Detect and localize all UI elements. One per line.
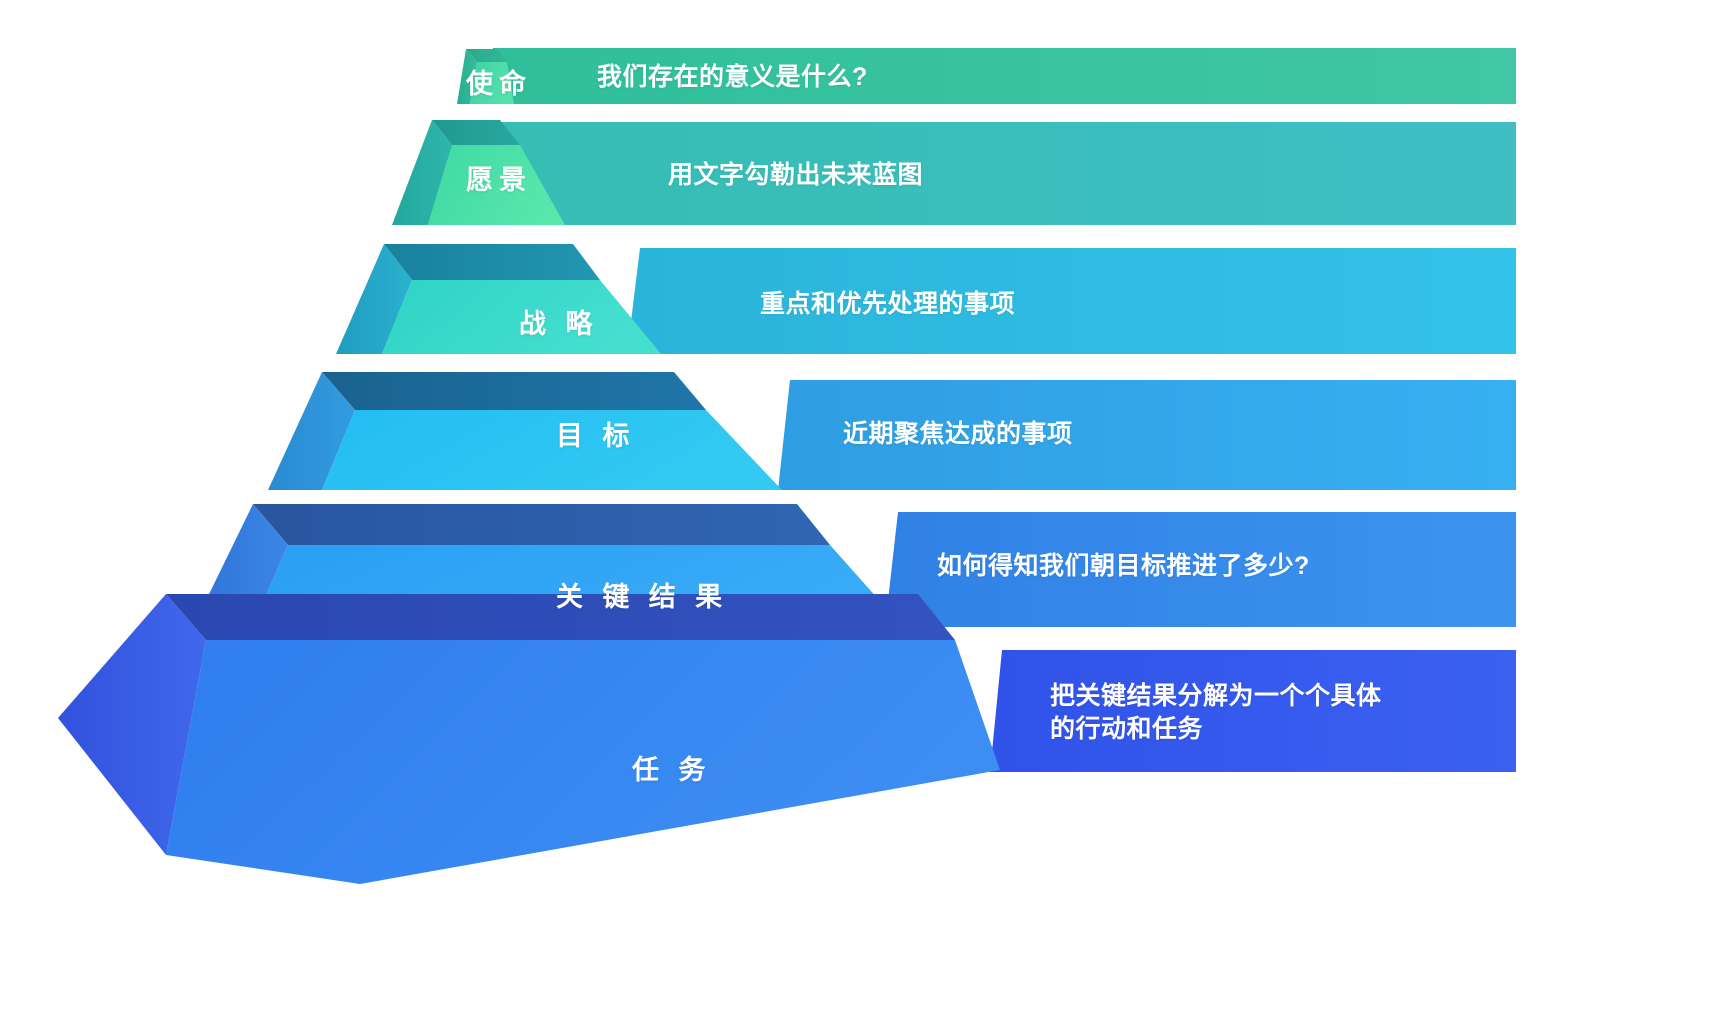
tier-objective-face <box>322 410 782 490</box>
band-vision <box>440 122 1516 225</box>
tier-desc-key-results: 如何得知我们朝目标推进了多少? <box>937 550 1310 583</box>
tier-task-top <box>166 594 955 640</box>
tier-desc-vision: 用文字勾勒出未来蓝图 <box>668 159 923 192</box>
tier-desc-mission: 我们存在的意义是什么? <box>597 61 868 94</box>
tier-desc-strategy: 重点和优先处理的事项 <box>760 288 1015 321</box>
tier-mission-face <box>470 62 514 104</box>
tier-strategy-face <box>382 280 661 354</box>
pyramid-tier-task <box>58 594 1000 884</box>
pyramid-diagram: 使命 愿景 战 略 目 标 关 键 结 果 任 务 我们存在的意义是什么? 用文… <box>0 0 1729 1016</box>
pyramid-graphic <box>0 0 1729 1016</box>
tier-objective-top <box>322 372 706 410</box>
tier-strategy-top <box>384 244 600 280</box>
tier-desc-task: 把关键结果分解为一个个具体 的行动和任务 <box>1050 680 1382 746</box>
tier-desc-objective: 近期聚焦达成的事项 <box>843 418 1073 451</box>
tier-task-face <box>166 640 1000 884</box>
pyramid-tier-objective <box>268 372 782 490</box>
pyramid-tier-strategy <box>336 244 661 354</box>
tier-key-results-top <box>253 504 830 545</box>
